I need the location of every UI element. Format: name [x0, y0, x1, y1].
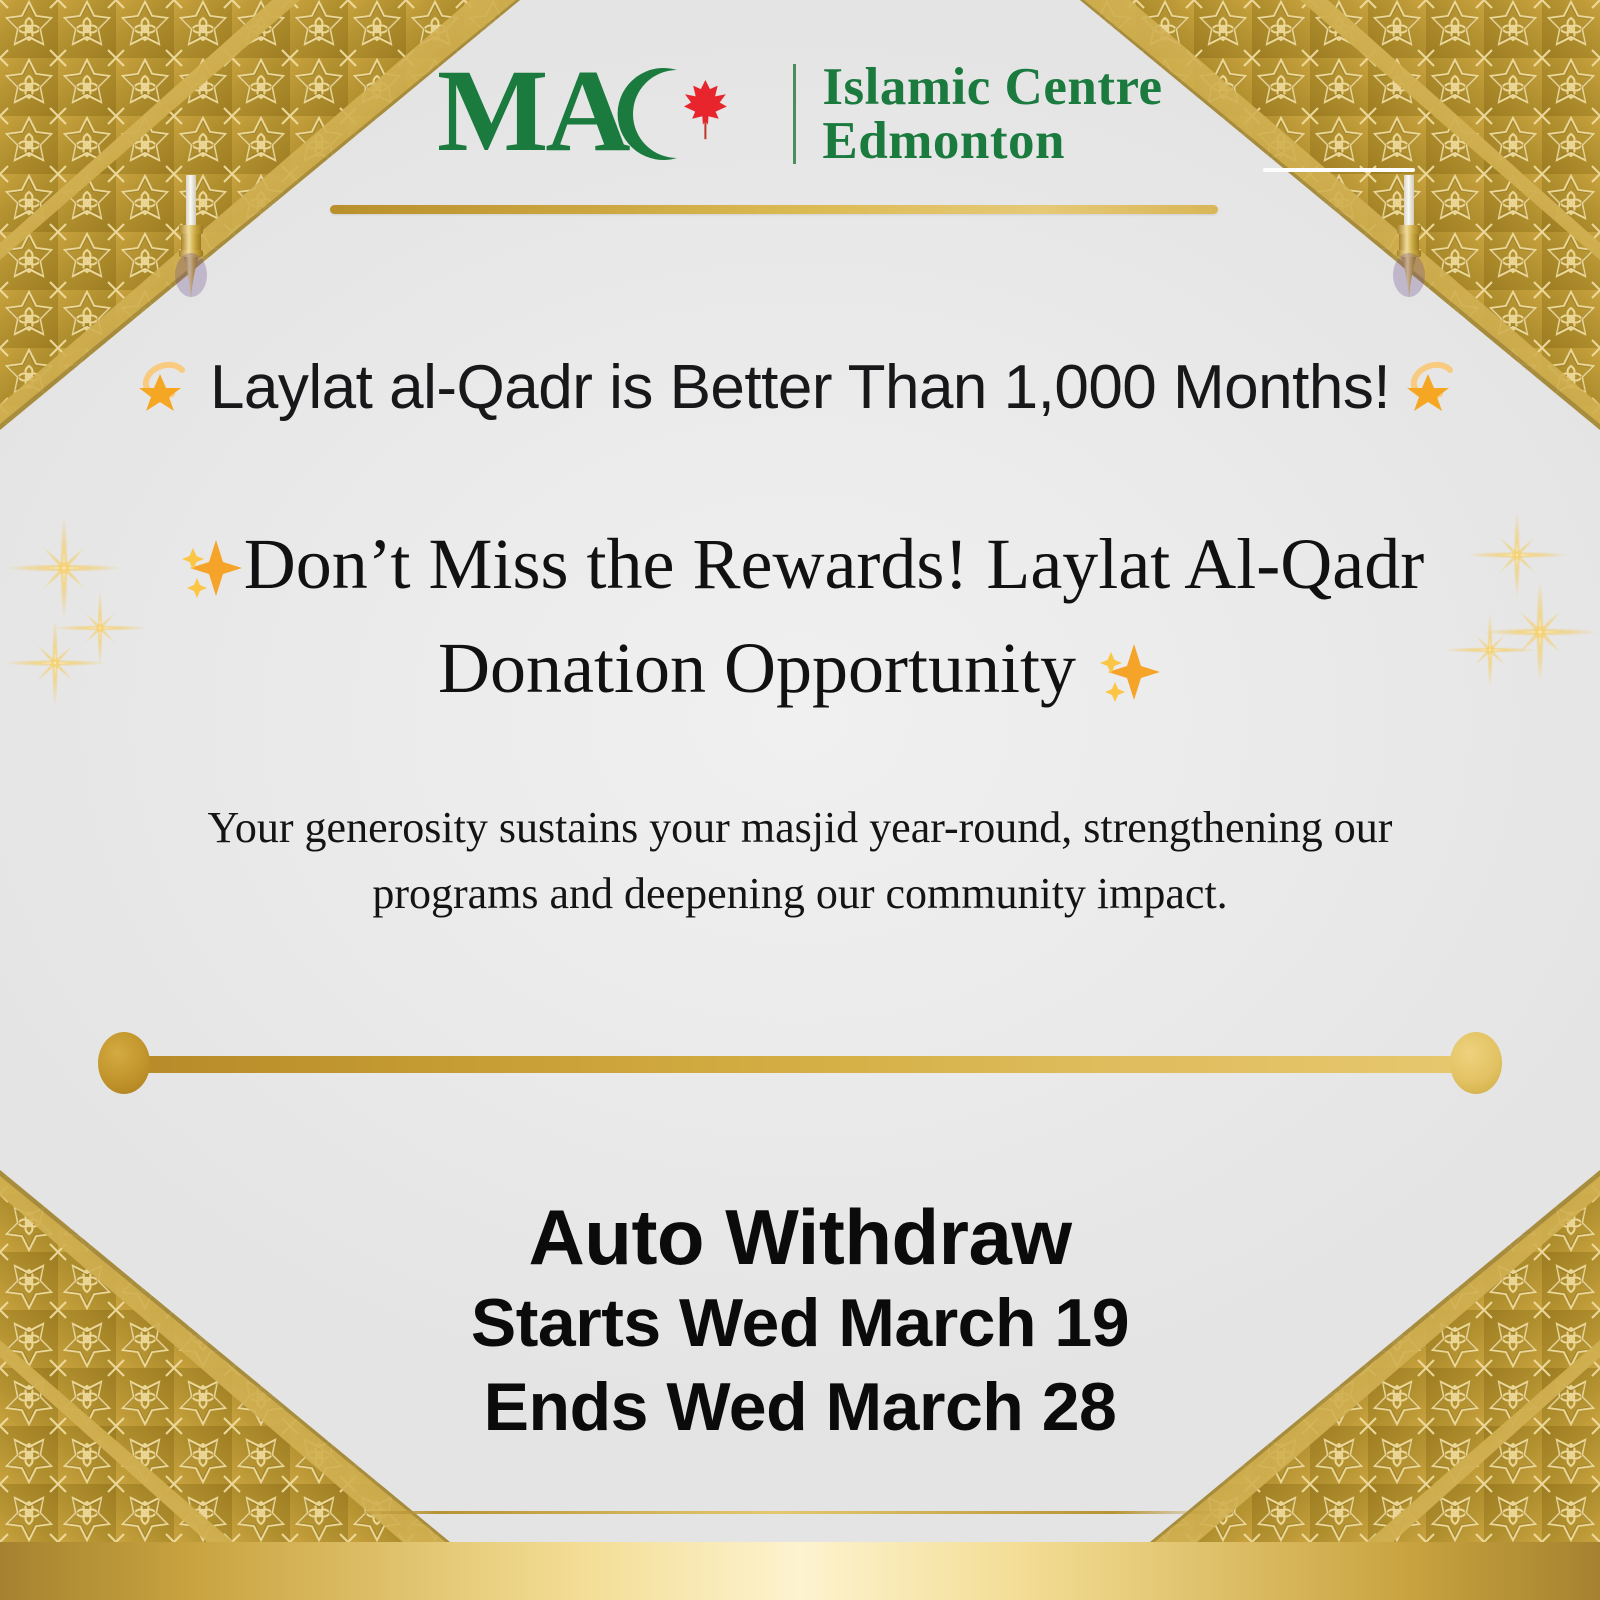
- mac-logomark: MA: [437, 58, 767, 170]
- gold-divider: [98, 1032, 1502, 1094]
- divider-cap-left: [98, 1032, 150, 1094]
- dizzy-star-icon-right: [1406, 358, 1462, 418]
- poster-canvas: MA Islamic Centre Edmonton: [0, 0, 1600, 1600]
- greek-key-border: [0, 1542, 1600, 1600]
- brand-logo: MA Islamic Centre Edmonton: [0, 58, 1600, 175]
- sparkle-flare-right-2: [1480, 572, 1600, 692]
- logo-underline: [330, 205, 1218, 214]
- subheadline: Don’t Miss the Rewards! Laylat Al-Qadr D…: [105, 512, 1495, 721]
- dizzy-star-icon-left: [138, 358, 194, 418]
- org-name-line1: Islamic Centre: [822, 60, 1162, 114]
- schedule-end-date: Ends Wed March 28: [0, 1368, 1600, 1446]
- org-name: Islamic Centre Edmonton: [822, 60, 1162, 168]
- lantern-icon-right: [1386, 175, 1432, 305]
- svg-text:MA: MA: [437, 58, 630, 170]
- headline-text: Laylat al-Qadr is Better Than 1,000 Mont…: [210, 352, 1390, 423]
- body-paragraph: Your generosity sustains your masjid yea…: [150, 795, 1450, 927]
- divider-bar: [122, 1056, 1478, 1073]
- headline-row: Laylat al-Qadr is Better Than 1,000 Mont…: [0, 352, 1600, 423]
- sparkle-flare-left-3: [0, 608, 110, 718]
- schedule-title: Auto Withdraw: [0, 1192, 1600, 1283]
- subheadline-text: Don’t Miss the Rewards! Laylat Al-Qadr D…: [244, 524, 1424, 708]
- org-name-line2: Edmonton: [822, 114, 1162, 168]
- accent-white-line: [1263, 168, 1415, 172]
- divider-cap-right: [1450, 1032, 1502, 1094]
- sparkles-icon-right: [1094, 632, 1162, 706]
- bottom-thin-gold-line: [330, 1511, 1220, 1514]
- sparkles-icon-left: [176, 528, 244, 602]
- lantern-icon-left: [168, 175, 214, 305]
- logo-divider: [793, 64, 796, 164]
- maple-leaf-icon: [684, 80, 727, 139]
- schedule-start-date: Starts Wed March 19: [0, 1284, 1600, 1362]
